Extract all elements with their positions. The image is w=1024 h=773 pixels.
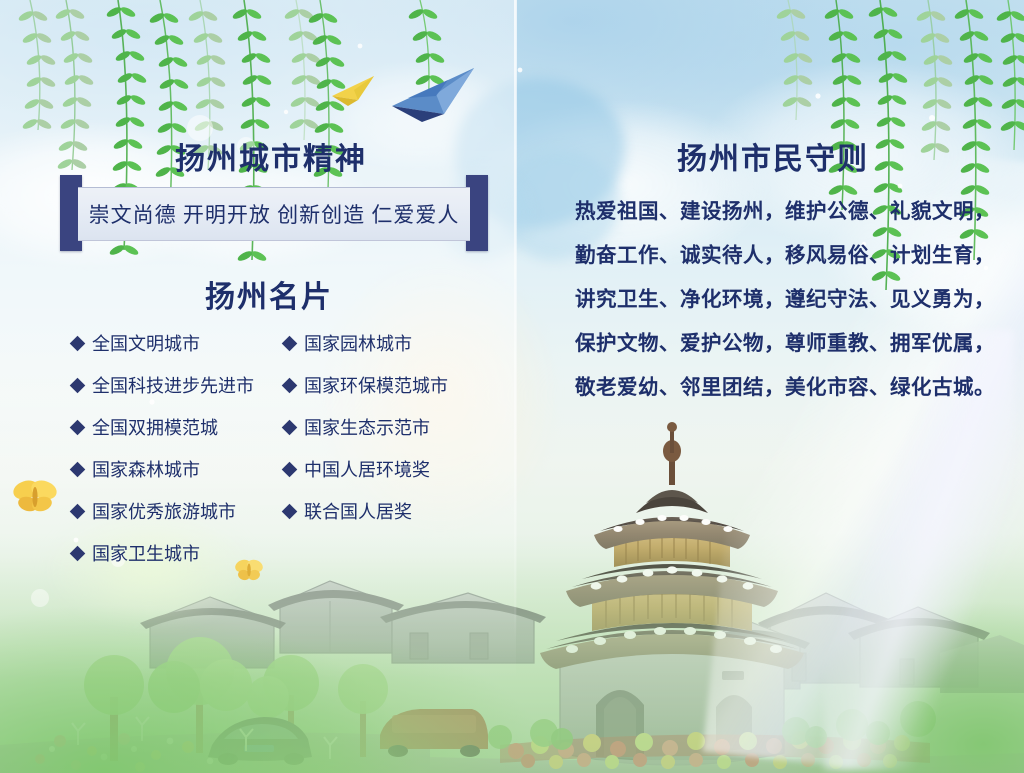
list-item: 联合国人居奖 — [284, 490, 448, 532]
list-item: 国家园林城市 — [284, 322, 448, 364]
list-item-label: 国家园林城市 — [304, 330, 412, 356]
diamond-bullet-icon — [282, 503, 298, 519]
banner-body: 崇文尚德 开明开放 创新创造 仁爱爱人 — [78, 187, 470, 241]
list-item: 国家卫生城市 — [72, 532, 254, 574]
list-item: 全国双拥模范城 — [72, 406, 254, 448]
diamond-bullet-icon — [70, 377, 86, 393]
city-card-column-right: 国家园林城市 国家环保模范城市 国家生态示范市 中国人居环境奖 联合国人居奖 — [284, 322, 448, 532]
list-item: 中国人居环境奖 — [284, 448, 448, 490]
diamond-bullet-icon — [282, 461, 298, 477]
city-card-title: 扬州名片 — [205, 272, 333, 316]
spirit-slogan: 崇文尚德 开明开放 创新创造 仁爱爱人 — [89, 199, 460, 229]
rules-line: 热爱祖国、建设扬州，维护公德、礼貌文明， — [575, 190, 975, 234]
list-item-label: 国家卫生城市 — [92, 540, 200, 566]
butterfly-icon — [8, 476, 62, 518]
diamond-bullet-icon — [70, 503, 86, 519]
rules-line: 勤奋工作、诚实待人，移风易俗、计划生育， — [575, 234, 975, 278]
diamond-bullet-icon — [282, 377, 298, 393]
rules-line: 敬老爱幼、邻里团结，美化市容、绿化古城。 — [575, 366, 975, 410]
list-item-label: 中国人居环境奖 — [304, 456, 430, 482]
list-item-label: 联合国人居奖 — [304, 498, 412, 524]
poster-canvas: 扬州城市精神 崇文尚德 开明开放 创新创造 仁爱爱人 扬州名片 全国文明城市 全… — [0, 0, 1024, 773]
list-item-label: 国家森林城市 — [92, 456, 200, 482]
list-item-label: 全国双拥模范城 — [92, 414, 218, 440]
diamond-bullet-icon — [70, 545, 86, 561]
diamond-bullet-icon — [282, 419, 298, 435]
paper-plane-icon — [388, 62, 480, 124]
list-item-label: 国家生态示范市 — [304, 414, 430, 440]
spirit-banner: 崇文尚德 开明开放 创新创造 仁爱爱人 — [60, 183, 488, 243]
paper-plane-icon — [328, 70, 380, 110]
rules-title: 扬州市民守则 — [677, 134, 869, 178]
diamond-bullet-icon — [282, 335, 298, 351]
list-item: 国家森林城市 — [72, 448, 254, 490]
list-item: 国家环保模范城市 — [284, 364, 448, 406]
list-item: 国家优秀旅游城市 — [72, 490, 254, 532]
list-item-label: 国家优秀旅游城市 — [92, 498, 236, 524]
list-item-label: 国家环保模范城市 — [304, 372, 448, 398]
list-item-label: 全国文明城市 — [92, 330, 200, 356]
spirit-title: 扬州城市精神 — [175, 134, 367, 178]
diamond-bullet-icon — [70, 419, 86, 435]
rules-paragraph: 热爱祖国、建设扬州，维护公德、礼貌文明， 勤奋工作、诚实待人，移风易俗、计划生育… — [575, 190, 975, 410]
city-card-column-left: 全国文明城市 全国科技进步先进市 全国双拥模范城 国家森林城市 国家优秀旅游城市… — [72, 322, 254, 574]
list-item: 全国科技进步先进市 — [72, 364, 254, 406]
list-item-label: 全国科技进步先进市 — [92, 372, 254, 398]
list-item: 全国文明城市 — [72, 322, 254, 364]
rules-line: 保护文物、爱护公物，尊师重教、拥军优属， — [575, 322, 975, 366]
diamond-bullet-icon — [70, 335, 86, 351]
list-item: 国家生态示范市 — [284, 406, 448, 448]
diamond-bullet-icon — [70, 461, 86, 477]
rules-line: 讲究卫生、净化环境，遵纪守法、见义勇为， — [575, 278, 975, 322]
